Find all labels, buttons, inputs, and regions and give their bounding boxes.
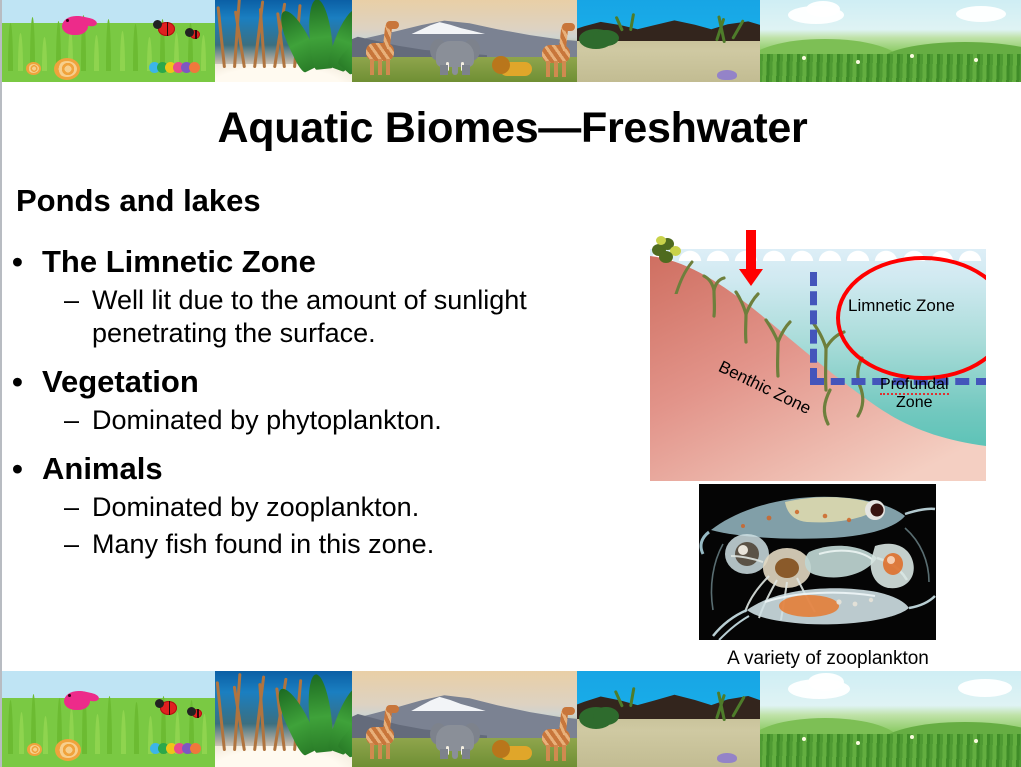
caterpillar-icon bbox=[153, 743, 201, 754]
bullet-marker-icon: • bbox=[12, 451, 42, 487]
giraffe-icon bbox=[366, 21, 396, 75]
ladybug-icon bbox=[160, 701, 177, 715]
banner-panel-savanna-kilimanjaro bbox=[352, 0, 577, 82]
caterpillar-icon bbox=[152, 62, 200, 73]
banner-panel-volcanic-dark-hills bbox=[577, 0, 760, 82]
giraffe-icon-2 bbox=[542, 23, 572, 77]
zooplankton-photograph bbox=[699, 484, 936, 640]
bird-icon bbox=[62, 16, 88, 35]
slide: Aquatic Biomes—Freshwater Ponds and lake… bbox=[0, 0, 1021, 767]
slide-title: Aquatic Biomes—Freshwater bbox=[2, 104, 1021, 153]
sub-bullet-text: Well lit due to the amount of sunlight p… bbox=[92, 284, 612, 350]
bullet-list: • The Limnetic Zone – Well lit due to th… bbox=[12, 240, 652, 561]
section-heading: Ponds and lakes bbox=[16, 183, 261, 219]
bullet-item-vegetation: • Vegetation bbox=[12, 364, 652, 400]
elephant-icon bbox=[430, 37, 480, 75]
banner-panel-freshwater-reeds-plants bbox=[215, 671, 352, 767]
sub-bullet-item: – Dominated by phytoplankton. bbox=[64, 404, 652, 437]
label-limnetic-zone: Limnetic Zone bbox=[848, 296, 955, 316]
lion-icon bbox=[492, 738, 532, 760]
giraffe-icon-2 bbox=[542, 707, 572, 761]
banner-panel-green-rolling-meadow bbox=[760, 671, 1021, 767]
dash-marker-icon: – bbox=[64, 404, 92, 437]
bullet-label: The Limnetic Zone bbox=[42, 244, 316, 280]
banner-panel-grassland-meadow-insects bbox=[2, 0, 215, 82]
bottom-biome-banner bbox=[2, 671, 1021, 767]
bullet-item-limnetic-zone: • The Limnetic Zone bbox=[12, 244, 652, 280]
bullet-label: Vegetation bbox=[42, 364, 199, 400]
snail-icon bbox=[54, 58, 80, 80]
banner-panel-savanna-kilimanjaro bbox=[352, 671, 577, 767]
label-profundal-line2: Zone bbox=[896, 394, 932, 411]
label-profundal-zone: Profundal Zone bbox=[880, 376, 949, 412]
bullet-marker-icon: • bbox=[12, 244, 42, 280]
sub-bullet-item: – Dominated by zooplankton. bbox=[64, 491, 652, 524]
snail-small-icon bbox=[27, 743, 42, 756]
banner-panel-grassland-meadow-insects bbox=[2, 671, 215, 767]
banner-panel-green-rolling-meadow bbox=[760, 0, 1021, 82]
sub-bullet-item: – Many fish found in this zone. bbox=[64, 528, 652, 561]
bullet-marker-icon: • bbox=[12, 364, 42, 400]
dash-marker-icon: – bbox=[64, 491, 92, 524]
giraffe-icon bbox=[366, 705, 396, 759]
sub-bullet-text: Dominated by phytoplankton. bbox=[92, 404, 442, 437]
bullet-label: Animals bbox=[42, 451, 163, 487]
label-profundal-line1: Profundal bbox=[880, 376, 949, 395]
limnetic-boundary-vertical bbox=[810, 272, 817, 382]
bird-icon bbox=[64, 691, 90, 710]
snail-small-icon bbox=[26, 62, 41, 75]
littoral-zone-arrow-icon bbox=[746, 230, 756, 271]
sub-bullet-text: Dominated by zooplankton. bbox=[92, 491, 419, 524]
elephant-icon bbox=[430, 721, 480, 759]
sub-bullet-text: Many fish found in this zone. bbox=[92, 528, 434, 561]
banner-panel-freshwater-reeds-plants bbox=[215, 0, 352, 82]
snail-icon bbox=[55, 739, 81, 761]
bullet-item-animals: • Animals bbox=[12, 451, 652, 487]
ladybug-small-icon bbox=[190, 30, 200, 39]
lion-icon bbox=[492, 54, 532, 76]
shore-stem-icon bbox=[672, 252, 698, 294]
sub-bullet-item: – Well lit due to the amount of sunlight… bbox=[64, 284, 652, 350]
top-biome-banner bbox=[2, 0, 1021, 82]
ladybug-small-icon bbox=[192, 709, 202, 718]
banner-panel-volcanic-dark-hills bbox=[577, 671, 760, 767]
dash-marker-icon: – bbox=[64, 528, 92, 561]
ladybug-icon bbox=[158, 22, 175, 36]
photo-caption: A variety of zooplankton bbox=[688, 648, 968, 670]
lake-zones-diagram: Littoral Zone Limnetic Zone Benthic Zone… bbox=[650, 230, 986, 481]
dash-marker-icon: – bbox=[64, 284, 92, 317]
